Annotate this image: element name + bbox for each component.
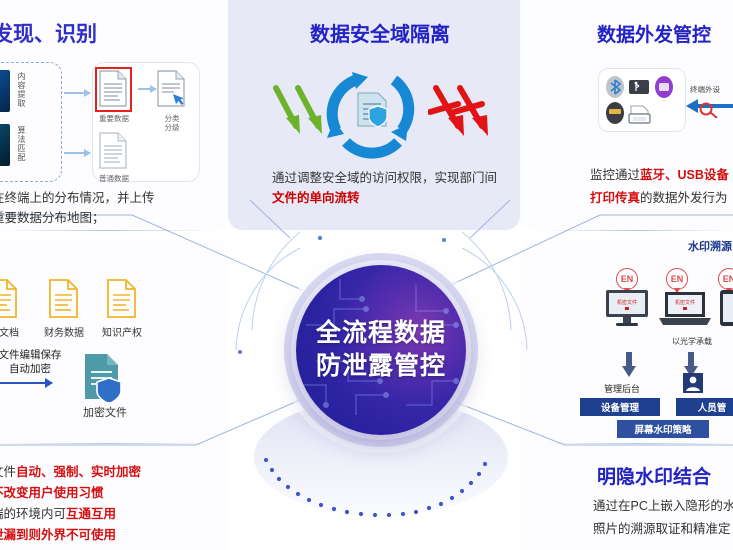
- divider-right: [540, 230, 733, 231]
- green-arrows-icon: [268, 82, 334, 146]
- label-classify-grade: 分类 分级: [150, 114, 194, 132]
- hub-title-line1: 全流程数据: [316, 317, 446, 350]
- isolation-caption-line2: 文件的单向流转: [272, 188, 497, 208]
- center-hub: 全流程数据 防泄露管控: [278, 247, 484, 453]
- enc-0-red: 自动、强制、实时加密: [16, 465, 141, 479]
- label-normal-data: 普通数据: [92, 174, 136, 183]
- enc-1-red: 不改变用户使用习惯: [0, 486, 104, 500]
- tablet-icon: [718, 288, 733, 328]
- outbound-caption-2a: 打印传真: [590, 191, 640, 205]
- thumb-algorithm-match: [0, 124, 10, 166]
- label-admin-console: 管理后台: [604, 382, 640, 395]
- divider-right-2: [540, 443, 733, 444]
- enc-0-pre: 重要文件: [0, 465, 16, 479]
- file-icon-2: [105, 278, 139, 320]
- en-badge-2: EN: [718, 268, 733, 290]
- outbound-caption-line1: 监控通过蓝牙、USB设备: [590, 165, 729, 185]
- outbound-caption-line2: 打印传真的数据外发行为: [590, 188, 728, 208]
- title-watermark-trace: 水印溯源: [688, 238, 732, 254]
- label-important-data: 重要数据: [92, 114, 136, 123]
- button-screen-watermark-policy[interactable]: 屏幕水印策略: [617, 420, 709, 438]
- encrypted-file-icon: [82, 352, 126, 402]
- red-arrows-icon: [428, 82, 498, 146]
- button-device-management[interactable]: 设备管理: [580, 398, 660, 416]
- svg-text:机密文件: 机密文件: [675, 299, 695, 306]
- file-label-2: 知识产权: [94, 324, 150, 339]
- outbound-caption-1b: 蓝牙、USB设备: [640, 168, 729, 182]
- button-personnel-management[interactable]: 人员管: [676, 398, 733, 416]
- encryption-body-line2: 客户端的环境内可互通互用: [0, 504, 116, 524]
- auto-encrypt-arrow: [0, 382, 52, 384]
- arrow-to-normal: [64, 152, 90, 154]
- title-discovery: 发现、识别: [0, 18, 97, 48]
- label-algorithm-match: 算法匹配: [16, 126, 26, 162]
- enc-2-red: 互通互用: [66, 507, 116, 521]
- en-badge-0: EN: [616, 268, 638, 290]
- hub-title-line2: 防泄露管控: [316, 350, 446, 383]
- outbound-block-arrow: [684, 96, 733, 118]
- auto-encrypt-flow-label: 文件编辑保存 自动加密: [0, 348, 90, 376]
- doc-normal-icon: [98, 132, 128, 170]
- enc-3-pre: 途径泄漏到则外界不可使用: [0, 528, 116, 542]
- encryption-body-line1: 行，不改变用户使用习惯: [0, 483, 104, 503]
- outbound-caption-2b: 的数据外发行为: [640, 191, 728, 205]
- file-icon-0: [0, 278, 20, 320]
- discovery-body-line2: 重要数据分布地图；: [0, 208, 105, 228]
- title-outbound: 数据外发管控: [597, 20, 711, 47]
- file-label-0: 发文档: [0, 324, 32, 339]
- title-isolation: 数据安全域隔离: [310, 18, 450, 47]
- peripheral-icons: [603, 74, 679, 126]
- outbound-caption-1a: 监控通过: [590, 168, 640, 182]
- divider-left-2: [0, 443, 215, 444]
- title-visible-invisible-watermark: 明隐水印结合: [597, 462, 711, 489]
- desktop-monitor-icon: 机密文件: [604, 288, 650, 328]
- label-optical-carry: 以光学承载: [672, 336, 712, 347]
- doc-classify-icon: [156, 70, 186, 108]
- label-content-extraction: 内容提取: [16, 72, 26, 108]
- file-icon-1: [47, 278, 81, 320]
- isolation-caption: 通过调整安全域的访问权限，实现部门间 文件的单向流转: [272, 168, 497, 208]
- en-badge-1: EN: [666, 268, 688, 290]
- arrow-to-important: [64, 92, 90, 94]
- infographic-canvas: 全流程数据 防泄露管控 发现、识别 内容提取 算法匹配 重要数据 分类 分级 普…: [0, 0, 733, 550]
- encrypted-file-label: 加密文件: [72, 404, 138, 420]
- watermark-body-line2: 照片的溯源取证和精准定: [593, 519, 731, 539]
- label-terminal-peripheral: 终端外设: [690, 84, 720, 95]
- encryption-body-line3: 途径泄漏到则外界不可使用: [0, 525, 116, 545]
- divider-left: [0, 230, 215, 231]
- thumb-content-extraction: [0, 70, 10, 112]
- svg-text:机密文件: 机密文件: [617, 299, 637, 306]
- watermark-body-line1: 通过在PC上嵌入隐形的水: [593, 496, 733, 516]
- admin-user-icon: [682, 372, 704, 394]
- down-arrow-0: [622, 352, 636, 378]
- enc-2-pre: 客户端的环境内可: [0, 507, 66, 521]
- hub-title: 全流程数据 防泄露管控: [278, 247, 484, 453]
- isolation-caption-line1: 通过调整安全域的访问权限，实现部门间: [272, 168, 497, 188]
- arrow-to-classify: [138, 88, 156, 90]
- highlight-important-data: [95, 67, 132, 112]
- discovery-body-line1: 在终端上的分布情况，并上传: [0, 188, 155, 208]
- laptop-icon: 机密文件: [657, 290, 713, 328]
- encryption-body-line0: 重要文件自动、强制、实时加密: [0, 462, 141, 482]
- file-label-1: 财务数据: [36, 324, 92, 339]
